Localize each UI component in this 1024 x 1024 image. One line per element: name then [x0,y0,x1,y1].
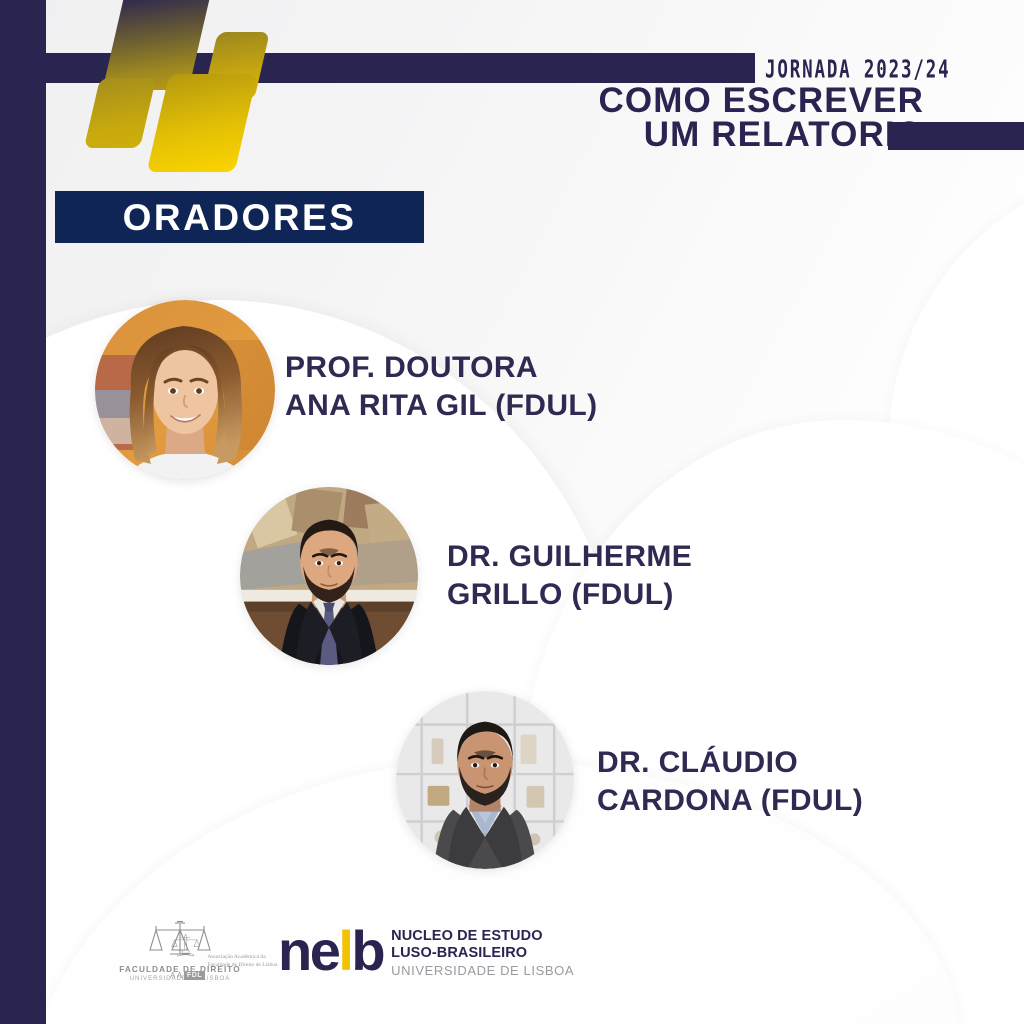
nelb-line3: UNIVERSIDADE DE LISBOA [391,963,574,979]
aafdl-description: Associação Académica da Faculdade de Dir… [207,954,280,969]
nelb-line2: LUSO-BRASILEIRO [391,945,574,962]
event-kicker: JORNADA 2023/24 [765,55,950,84]
sword-and-scales-icon [170,923,201,969]
aafdl-abbrev: AA [170,971,184,980]
speakers-section-banner: ORADORES [55,191,424,243]
footer-logos: FACULDADE DE DIREITO UNIVERSIDADE DE LIS… [0,915,1024,1011]
speaker-1-name-line2: ANA RITA GIL (FDUL) [285,387,598,425]
speaker-3-name-line1: DR. CLÁUDIO [597,744,863,782]
speaker-1-name: PROF. DOUTORA ANA RITA GIL (FDUL) [285,349,598,425]
speaker-1-avatar [95,300,275,480]
page-title: COMO ESCREVER UM RELATORIO [599,84,924,152]
speakers-section-label: ORADORES [123,199,357,236]
aafdl-badge: FDL [184,971,205,980]
nelb-wordmark-b: b [351,919,383,982]
left-navy-strip [0,0,46,1024]
brand-mark-icon [88,0,268,170]
speaker-2-avatar [240,487,418,665]
speaker-2-name-line1: DR. GUILHERME [447,538,692,576]
nelb-tagline: NUCLEO DE ESTUDO LUSO-BRASILEIRO UNIVERS… [391,923,574,979]
nelb-wordmark: nelb [278,925,383,977]
aafdl-logo: Associação Académica da Faculdade de Dir… [170,923,280,980]
nelb-wordmark-l: l [338,919,351,982]
nelb-wordmark-ne: ne [278,919,338,982]
nelb-line1: NUCLEO DE ESTUDO [391,928,574,945]
speaker-2-name-line2: GRILLO (FDUL) [447,576,692,614]
page-title-line2: UM RELATORIO [599,118,924,152]
speaker-3-avatar [396,691,574,869]
speaker-3-name: DR. CLÁUDIO CARDONA (FDUL) [597,744,863,820]
speaker-1-name-line1: PROF. DOUTORA [285,349,598,387]
nelb-logo: nelb NUCLEO DE ESTUDO LUSO-BRASILEIRO UN… [278,923,574,979]
speaker-2-name: DR. GUILHERME GRILLO (FDUL) [447,538,692,614]
poster-canvas: JORNADA 2023/24 COMO ESCREVER UM RELATOR… [0,0,1024,1024]
brand-shape-3 [84,78,156,148]
aafdl-abbrev-row: AAFDL [170,971,280,980]
speaker-3-name-line2: CARDONA (FDUL) [597,782,863,820]
